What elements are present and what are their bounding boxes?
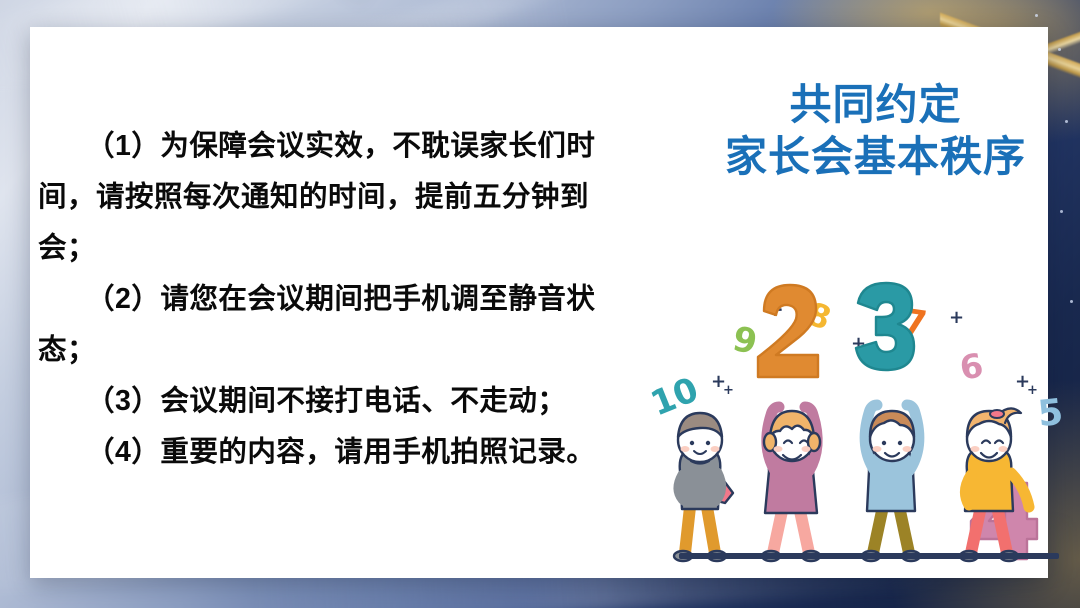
background-speck bbox=[1035, 14, 1038, 17]
ground-line bbox=[679, 553, 1059, 559]
title-line-1: 共同约定 bbox=[725, 79, 1026, 131]
rule-item-2: （2）请您在会议期间把手机调至静音状态； bbox=[38, 274, 618, 376]
background-speck bbox=[1065, 120, 1068, 123]
rules-list: （1）为保障会议实效，不耽误家长们时间，请按照每次通知的时间，提前五分钟到会； … bbox=[38, 121, 618, 478]
background-speck bbox=[1070, 300, 1073, 303]
page-title: 共同约定 家长会基本秩序 bbox=[725, 79, 1026, 183]
background-speck bbox=[1058, 48, 1061, 51]
slide: 共同约定 家长会基本秩序 （1）为保障会议实效，不耽误家长们时间，请按照每次通知… bbox=[0, 0, 1080, 608]
children-scene-svg bbox=[645, 275, 1065, 575]
held-number-2 bbox=[758, 285, 818, 377]
held-number-3 bbox=[856, 283, 914, 370]
rule-item-1: （1）为保障会议实效，不耽误家长们时间，请按照每次通知的时间，提前五分钟到会； bbox=[38, 121, 618, 274]
rule-item-4: （4）重要的内容，请用手机拍照记录。 bbox=[38, 427, 618, 478]
illustration-children-numbers: 10 9 8 7 6 5 + + + + + + + bbox=[645, 275, 1065, 575]
title-line-2: 家长会基本秩序 bbox=[725, 131, 1026, 183]
rule-item-3: （3）会议期间不接打电话、不走动； bbox=[38, 376, 618, 427]
content-card: 共同约定 家长会基本秩序 （1）为保障会议实效，不耽误家长们时间，请按照每次通知… bbox=[30, 27, 1048, 578]
background-speck bbox=[1060, 210, 1063, 213]
